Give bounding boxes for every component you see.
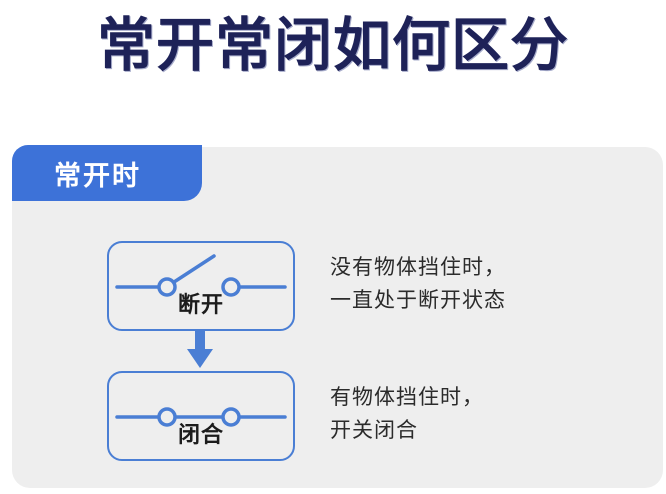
description-line: 一直处于断开状态	[330, 284, 506, 317]
switch-open-label: 断开	[109, 287, 293, 319]
switch-closed-label: 闭合	[109, 417, 293, 449]
switch-open-box: 断开	[107, 241, 295, 331]
switch-open-description: 没有物体挡住时， 一直处于断开状态	[330, 251, 506, 317]
section-badge: 常开时	[12, 145, 202, 201]
switch-closed-description: 有物体挡住时， 开关闭合	[330, 381, 484, 447]
description-line: 开关闭合	[330, 414, 484, 447]
arrow-down-icon	[186, 331, 214, 369]
section-badge-label: 常开时	[54, 154, 141, 193]
description-line: 没有物体挡住时，	[330, 251, 506, 284]
page-title: 常开常闭如何区分	[0, 8, 666, 84]
description-line: 有物体挡住时，	[330, 381, 484, 414]
switch-closed-box: 闭合	[107, 371, 295, 461]
